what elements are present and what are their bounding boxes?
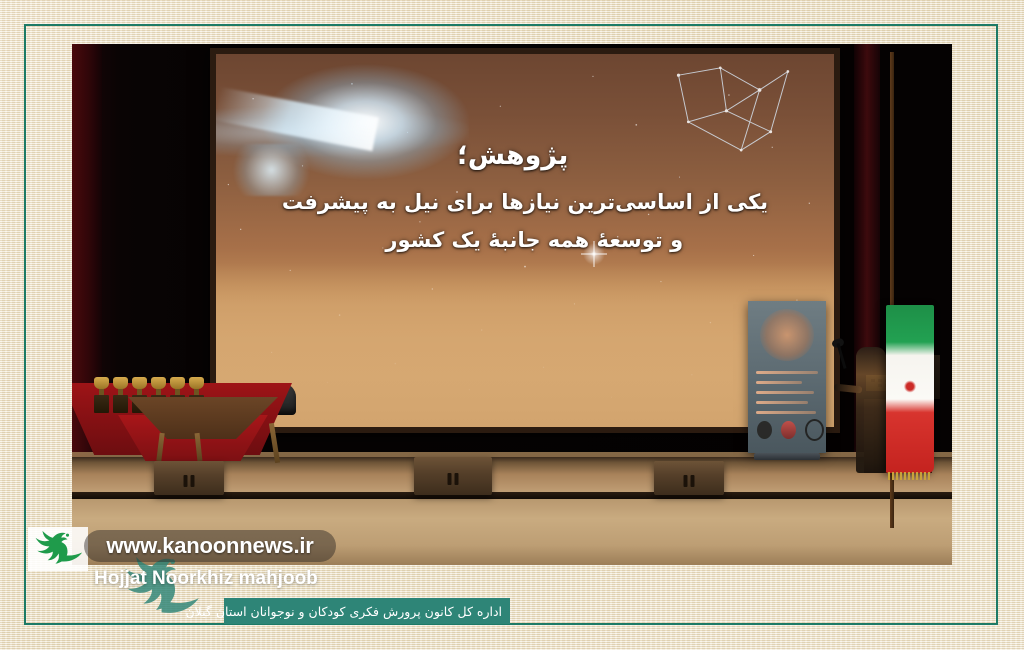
- slide-text-block: پژوهش؛ یکی از اساسی‌ترین نیازها برای نیل…: [216, 136, 834, 260]
- banner-sponsor-marks: [757, 419, 824, 441]
- page-root: پژوهش؛ یکی از اساسی‌ترین نیازها برای نیل…: [0, 0, 1024, 650]
- stage-monitor-speaker: [154, 461, 224, 495]
- projection-screen: پژوهش؛ یکی از اساسی‌ترین نیازها برای نیل…: [216, 54, 834, 427]
- slide-title: پژوهش؛: [216, 136, 834, 177]
- slide-line-2: و توسعهٔ همه جانبهٔ یک کشور: [216, 221, 834, 260]
- screen-light-wash: [216, 263, 834, 427]
- iran-emblem-mark-icon: [757, 421, 772, 439]
- stage-monitor-speaker: [654, 461, 724, 495]
- event-rollup-banner: [748, 301, 826, 453]
- flag-fringe: [888, 472, 932, 480]
- trophy: [94, 377, 109, 413]
- banner-calligraphy-logo-icon: [760, 309, 814, 361]
- iran-flag-emblem-icon: [904, 379, 917, 394]
- event-photograph: پژوهش؛ یکی از اساسی‌ترین نیازها برای نیل…: [72, 44, 952, 565]
- sponsor-mark-icon: [781, 421, 796, 439]
- projection-screen-frame: پژوهش؛ یکی از اساسی‌ترین نیازها برای نیل…: [210, 48, 840, 433]
- standing-person: [856, 347, 886, 473]
- website-url-text: www.kanoonnews.ir: [106, 533, 313, 559]
- organization-caption-text: اداره کل کانون پرورش فکری کودکان و نوجوا…: [186, 604, 503, 619]
- website-url-watermark[interactable]: www.kanoonnews.ir: [84, 530, 336, 562]
- stage-monitor-speaker: [414, 457, 492, 495]
- banner-base: [754, 453, 820, 460]
- kanoon-logo-chip: [28, 527, 88, 571]
- trophy: [113, 377, 128, 413]
- kanoon-bird-logo-icon: [32, 530, 84, 568]
- ring-mark-icon: [805, 419, 824, 441]
- organization-caption-bar: اداره کل کانون پرورش فکری کودکان و نوجوا…: [224, 598, 510, 624]
- photographer-credit: Hojjat Noorkhiz mahjoob: [94, 568, 394, 590]
- slide-line-1: یکی از اساسی‌ترین نیازها برای نیل به پیش…: [216, 183, 834, 222]
- iran-flag-icon: [886, 305, 934, 473]
